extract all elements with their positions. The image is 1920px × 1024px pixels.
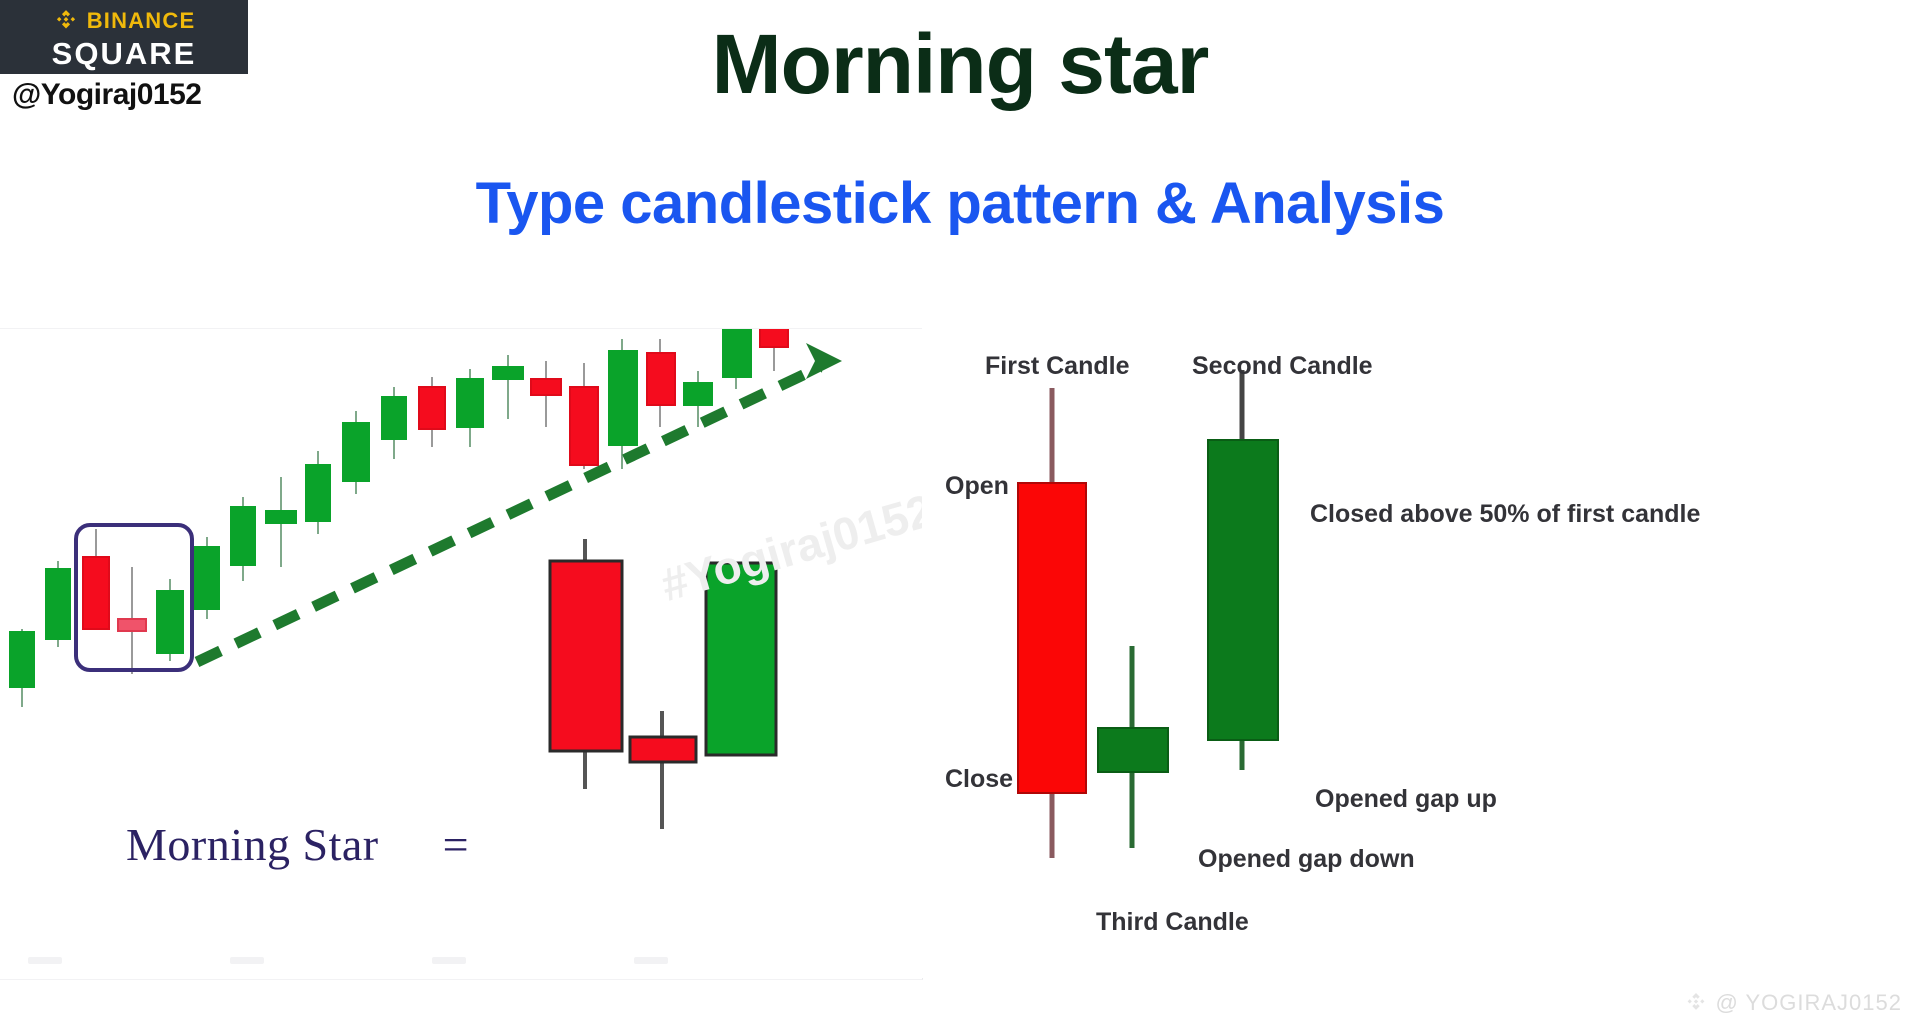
label-opened-gap-down: Opened gap down xyxy=(1198,845,1415,874)
diagram-second-candle xyxy=(1208,370,1278,770)
binance-diamond-icon xyxy=(1684,991,1708,1015)
axis-tick-marks xyxy=(28,957,668,964)
page-subtitle: Type candlestick pattern & Analysis xyxy=(0,175,1920,233)
label-first-candle: First Candle xyxy=(985,352,1129,381)
label-close: Close xyxy=(945,765,1013,794)
label-opened-gap-up: Opened gap up xyxy=(1315,785,1497,814)
page-root: BINANCE SQUARE @Yogiraj0152 Morning star… xyxy=(0,0,1920,1024)
label-second-candle: Second Candle xyxy=(1192,352,1373,381)
morning-star-text: Morning Star xyxy=(126,819,379,870)
right-diagram-panel xyxy=(922,328,1920,978)
equals-sign: = xyxy=(443,819,469,870)
uptrend-candlestick-chart xyxy=(0,329,922,979)
morning-star-zoom-candles xyxy=(550,539,776,829)
candle-series xyxy=(10,329,788,707)
credit-text: @ YOGIRAJ0152 xyxy=(1715,990,1902,1016)
left-chart-panel xyxy=(0,328,923,980)
credit-watermark: @ YOGIRAJ0152 xyxy=(1684,990,1902,1016)
diagram-third-candle xyxy=(1098,646,1168,848)
page-title: Morning star xyxy=(0,22,1920,106)
label-open: Open xyxy=(945,472,1009,501)
label-closed-above-50: Closed above 50% of first candle xyxy=(1310,500,1700,529)
label-third-candle: Third Candle xyxy=(1096,908,1249,937)
morning-star-equation-label: Morning Star = xyxy=(126,818,469,871)
morning-star-annotated-diagram xyxy=(922,328,1920,978)
diagram-first-candle xyxy=(1018,388,1086,858)
